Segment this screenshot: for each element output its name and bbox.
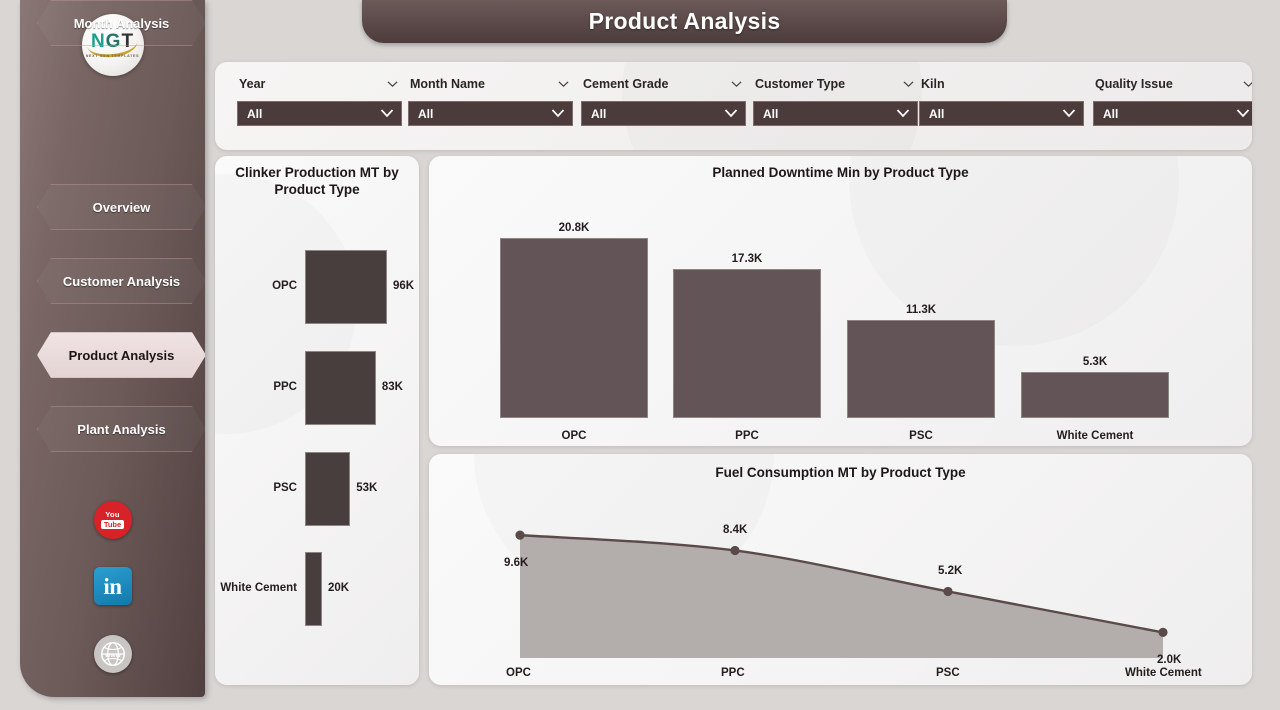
filter-label: Quality Issue <box>1095 77 1173 91</box>
globe-badge: www <box>94 635 132 673</box>
website-globe-icon[interactable]: www <box>94 635 132 673</box>
filter-label: Customer Type <box>755 77 845 91</box>
chevron-down-icon[interactable] <box>731 77 742 91</box>
data-point-marker[interactable] <box>1158 628 1167 637</box>
filter-kiln-label-row: Kiln <box>919 75 1084 93</box>
filter-kiln-dropdown[interactable]: All <box>919 101 1084 126</box>
downtime-plot-area: 20.8K OPC 17.3K PPC 11.3K PSC 5.3K White… <box>429 192 1252 446</box>
chevron-down-icon <box>1062 105 1076 123</box>
bar[interactable] <box>305 351 376 425</box>
sidebar-item-label: Overview <box>93 200 151 215</box>
chevron-down-icon[interactable] <box>558 77 569 91</box>
bar-value-label: 53K <box>356 482 377 494</box>
bar[interactable] <box>305 452 350 526</box>
filter-value: All <box>929 107 944 121</box>
point-value-label: 5.2K <box>938 565 962 577</box>
chart-planned-downtime: Planned Downtime Min by Product Type 20.… <box>429 156 1252 446</box>
bar-category-label: PSC <box>847 430 995 442</box>
filter-year-dropdown[interactable]: All <box>237 101 402 126</box>
bar-value-label: 96K <box>393 280 414 292</box>
filter-label: Kiln <box>921 77 945 91</box>
logo-tagline: NEXT GEN TEMPLATES <box>82 54 144 58</box>
chevron-down-icon[interactable] <box>1243 77 1252 91</box>
point-value-label: 9.6K <box>504 557 528 569</box>
filter-label: Year <box>239 77 265 91</box>
bar[interactable] <box>500 238 648 418</box>
youtube-tube-text: Tube <box>101 520 124 530</box>
fuel-plot-area: 9.6K 8.4K 5.2K 2.0K OPC PPC PSC White Ce… <box>429 484 1252 685</box>
filter-value: All <box>763 107 778 121</box>
bar[interactable] <box>847 320 995 418</box>
youtube-badge: You Tube <box>94 501 132 539</box>
sidebar-item-overview[interactable]: Overview <box>37 184 205 230</box>
filter-quality-issue-label-row: Quality Issue <box>1093 75 1252 93</box>
point-category-label: PPC <box>721 667 745 679</box>
bar[interactable] <box>1021 372 1169 418</box>
bar-value-label: 20K <box>328 582 349 594</box>
filter-cement-grade: Cement Grade All <box>581 75 746 126</box>
point-value-label: 2.0K <box>1157 654 1181 666</box>
chevron-down-icon[interactable] <box>903 77 914 91</box>
bar-value-label: 17.3K <box>673 253 821 265</box>
filter-year: Year All <box>237 75 402 126</box>
chevron-down-icon <box>380 105 394 123</box>
point-category-label: PSC <box>936 667 960 679</box>
filter-month-name-label-row: Month Name <box>408 75 573 93</box>
filter-label: Month Name <box>410 77 485 91</box>
chevron-down-icon <box>724 105 738 123</box>
bar-category-label: White Cement <box>217 582 297 594</box>
bar-value-label: 11.3K <box>847 304 995 316</box>
filter-month-name: Month Name All <box>408 75 573 126</box>
data-point-marker[interactable] <box>515 531 524 540</box>
filter-quality-issue-dropdown[interactable]: All <box>1093 101 1252 126</box>
chart-title: Clinker Production MT by Product Type <box>215 165 419 199</box>
page-title: Product Analysis <box>362 0 1007 43</box>
bar-value-label: 20.8K <box>500 222 648 234</box>
filter-kiln: Kiln All <box>919 75 1084 126</box>
svg-text:www: www <box>104 652 122 659</box>
downtime-column-psc[interactable]: 11.3K PSC <box>847 192 995 446</box>
bar-category-label: PPC <box>217 381 297 393</box>
filter-value: All <box>591 107 606 121</box>
sidebar-item-month-analysis[interactable]: Month Analysis <box>37 0 205 46</box>
point-category-label: White Cement <box>1125 667 1202 679</box>
sidebar: NGT NEXT GEN TEMPLATES Overview Customer… <box>20 0 205 697</box>
downtime-column-white-cement[interactable]: 5.3K White Cement <box>1021 192 1169 446</box>
bar-category-label: White Cement <box>1021 430 1169 442</box>
filter-value: All <box>418 107 433 121</box>
bar-category-label: OPC <box>217 280 297 292</box>
filter-customer-type: Customer Type All <box>753 75 918 126</box>
youtube-you-text: You <box>105 511 119 519</box>
fuel-area-svg <box>429 484 1252 685</box>
linkedin-in-text: in <box>103 575 121 598</box>
bar[interactable] <box>305 250 387 324</box>
bar-category-label: OPC <box>500 430 648 442</box>
filter-cement-grade-dropdown[interactable]: All <box>581 101 746 126</box>
sidebar-item-label: Customer Analysis <box>63 274 180 289</box>
data-point-marker[interactable] <box>943 587 952 596</box>
filter-cement-grade-label-row: Cement Grade <box>581 75 746 93</box>
page-title-text: Product Analysis <box>589 8 781 35</box>
area-fill <box>520 535 1163 658</box>
filter-quality-issue: Quality Issue All <box>1093 75 1252 126</box>
downtime-column-ppc[interactable]: 17.3K PPC <box>673 192 821 446</box>
bar-value-label: 5.3K <box>1021 356 1169 368</box>
chevron-down-icon <box>896 105 910 123</box>
sidebar-item-customer-analysis[interactable]: Customer Analysis <box>37 258 205 304</box>
sidebar-item-product-analysis[interactable]: Product Analysis <box>37 332 205 378</box>
filter-bar: Year All Month Name All <box>215 62 1252 150</box>
filter-label: Cement Grade <box>583 77 668 91</box>
filter-customer-type-dropdown[interactable]: All <box>753 101 918 126</box>
point-value-label: 8.4K <box>723 524 747 536</box>
filter-year-label-row: Year <box>237 75 402 93</box>
filter-month-name-dropdown[interactable]: All <box>408 101 573 126</box>
bar-category-label: PSC <box>217 482 297 494</box>
chart-fuel-consumption: Fuel Consumption MT by Product Type 9.6K… <box>429 454 1252 685</box>
linkedin-badge: in <box>94 567 132 605</box>
downtime-column-opc[interactable]: 20.8K OPC <box>500 192 648 446</box>
linkedin-icon[interactable]: in <box>94 567 132 605</box>
chart-title: Planned Downtime Min by Product Type <box>429 165 1252 182</box>
filter-customer-type-label-row: Customer Type <box>753 75 918 93</box>
bar[interactable] <box>305 552 322 626</box>
sidebar-item-label: Product Analysis <box>69 348 175 363</box>
bar[interactable] <box>673 269 821 418</box>
sidebar-item-label: Month Analysis <box>74 16 170 31</box>
data-point-marker[interactable] <box>730 546 739 555</box>
point-category-label: OPC <box>506 667 531 679</box>
chart-clinker-production: Clinker Production MT by Product Type OP… <box>215 156 419 685</box>
chevron-down-icon <box>551 105 565 123</box>
chart-title: Fuel Consumption MT by Product Type <box>429 465 1252 482</box>
filter-value: All <box>1103 107 1118 121</box>
chevron-down-icon <box>1236 105 1250 123</box>
sidebar-item-label: Plant Analysis <box>77 422 165 437</box>
sidebar-item-plant-analysis[interactable]: Plant Analysis <box>37 406 205 452</box>
dashboard-root: NGT NEXT GEN TEMPLATES Overview Customer… <box>0 0 1280 710</box>
chevron-down-icon[interactable] <box>387 77 398 91</box>
bar-category-label: PPC <box>673 430 821 442</box>
youtube-icon[interactable]: You Tube <box>94 501 132 539</box>
bar-value-label: 83K <box>382 381 403 393</box>
filter-value: All <box>247 107 262 121</box>
